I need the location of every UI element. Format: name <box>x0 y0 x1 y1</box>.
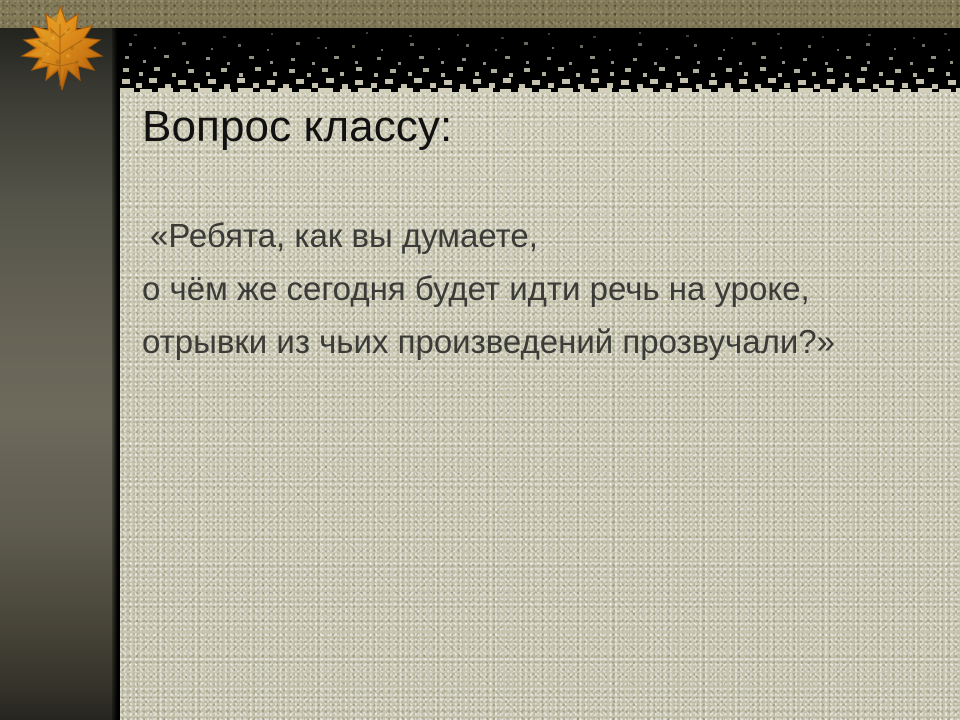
slide-body: «Ребята, как вы думаете, о чём же сегодн… <box>134 214 946 373</box>
left-decorative-sidebar <box>0 28 118 720</box>
presentation-slide: Вопрос классу: «Ребята, как вы думаете, … <box>0 0 960 720</box>
dithered-noise-band <box>120 28 960 92</box>
slide-content-panel: Вопрос классу: «Ребята, как вы думаете, … <box>120 28 960 720</box>
maple-leaf-icon <box>8 2 112 94</box>
body-paragraph: о чём же сегодня будет идти речь на урок… <box>134 267 946 311</box>
body-paragraph: отрывки из чьих произведений прозвучали?… <box>134 320 946 364</box>
body-paragraph: «Ребята, как вы думаете, <box>134 214 946 258</box>
slide-title: Вопрос классу: <box>142 104 942 150</box>
